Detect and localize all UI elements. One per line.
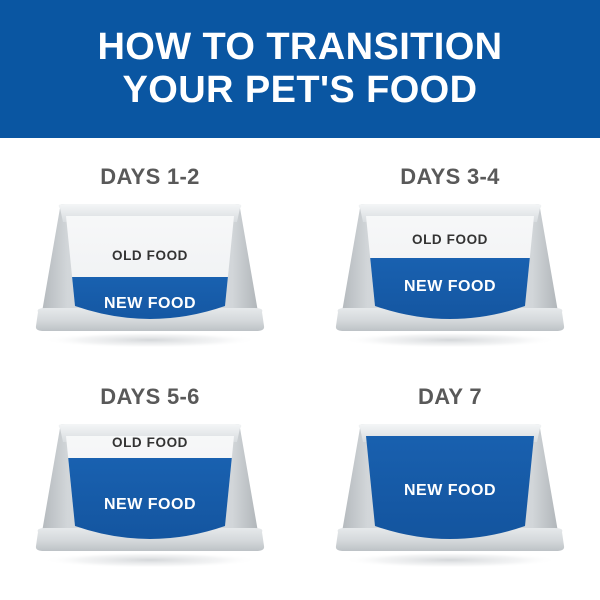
food-bowl-day-7: NEW FOOD (320, 420, 580, 570)
page-title-line-2: YOUR PET'S FOOD (123, 69, 478, 112)
bowl-illustration-icon (320, 420, 580, 570)
bowl-illustration-icon (20, 200, 280, 350)
step-label-days-1-2: DAYS 1-2 (0, 164, 300, 190)
bowl-illustration-icon (320, 200, 580, 350)
step-label-days-5-6: DAYS 5-6 (0, 384, 300, 410)
step-card-day-7: DAY 7 (300, 358, 600, 578)
transition-steps-grid: DAYS 1-2 (0, 138, 600, 600)
page-title-line-1: HOW TO TRANSITION (97, 26, 502, 69)
step-label-day-7: DAY 7 (300, 384, 600, 410)
header-banner: HOW TO TRANSITION YOUR PET'S FOOD (0, 0, 600, 138)
food-bowl-days-5-6: OLD FOOD NEW FOOD (20, 420, 280, 570)
bowl-illustration-icon (20, 420, 280, 570)
food-bowl-days-1-2: OLD FOOD NEW FOOD (20, 200, 280, 350)
step-label-days-3-4: DAYS 3-4 (300, 164, 600, 190)
step-card-days-3-4: DAYS 3-4 (300, 138, 600, 358)
step-card-days-1-2: DAYS 1-2 (0, 138, 300, 358)
food-bowl-days-3-4: OLD FOOD NEW FOOD (320, 200, 580, 350)
infographic-root: HOW TO TRANSITION YOUR PET'S FOOD DAYS 1… (0, 0, 600, 600)
step-card-days-5-6: DAYS 5-6 (0, 358, 300, 578)
